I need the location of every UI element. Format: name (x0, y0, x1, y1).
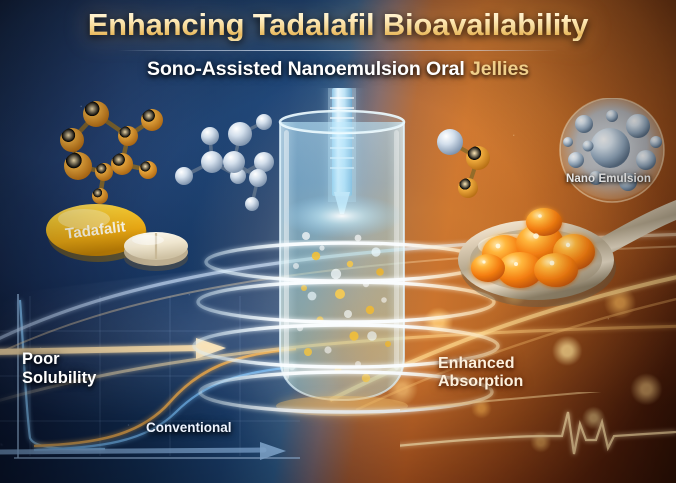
title-divider (118, 50, 558, 51)
ecg-sweep-arc (400, 392, 676, 410)
title-block: Enhancing Tadalafil Bioavailability Sono… (0, 8, 676, 81)
label-enhanced-absorption: Enhanced Absorption (438, 355, 523, 391)
subtitle-accent-text: Jellies (470, 58, 529, 80)
page-title: Enhancing Tadalafil Bioavailability (0, 8, 676, 41)
jelly-spoon (440, 198, 676, 316)
molecule-atoms-gold (60, 101, 163, 204)
subtitle-main-text: Sono-Assisted Nanoemulsion Oral (147, 58, 470, 80)
cavitation-burst (280, 194, 404, 238)
conventional-arrow (0, 442, 286, 460)
label-poor-solubility: Poor Solubility (22, 350, 96, 388)
label-conventional: Conventional (146, 420, 232, 435)
jelly-cubes (471, 208, 595, 288)
ecg-waveform (400, 392, 676, 483)
nano-emulsion-label: Nano Emulsion (566, 173, 651, 185)
ecg-line (400, 412, 676, 454)
nano-emulsion-inset (548, 98, 676, 206)
page-subtitle: Sono-Assisted Nanoemulsion Oral Jellies (0, 59, 676, 80)
infographic-poster: Tadafalit (0, 0, 676, 483)
